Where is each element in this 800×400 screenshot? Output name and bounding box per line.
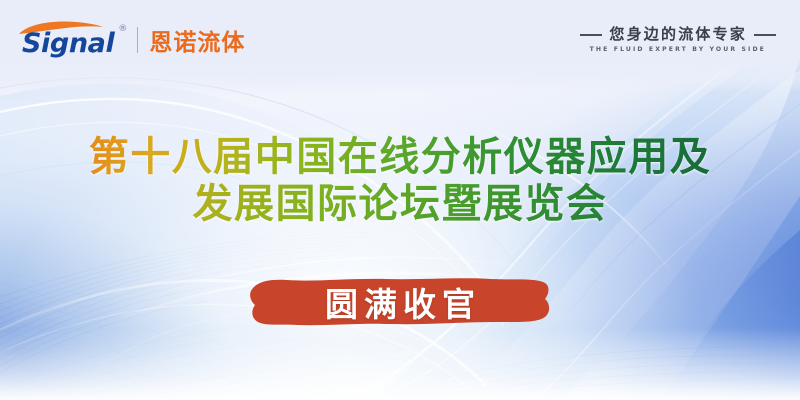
- slogan-english-text: THE FLUID EXPERT BY YOUR SIDE: [578, 47, 778, 54]
- slogan-chinese-text: 您身边的流体专家: [609, 26, 747, 43]
- slogan-rule-right-icon: [754, 34, 776, 36]
- event-title: 第十八届中国在线分析仪器应用及 发展国际论坛暨展览会: [0, 134, 800, 228]
- logo-divider-icon: [137, 27, 138, 53]
- logo-wordmark: Signal: [22, 28, 114, 59]
- event-title-line-1: 第十八届中国在线分析仪器应用及: [0, 134, 800, 181]
- banner-header: Signal ® 恩诺流体 您身边的流体专家 THE FLUID EXPERT …: [0, 0, 800, 80]
- registered-trademark-icon: ®: [118, 25, 127, 34]
- brand-logo[interactable]: Signal ® 恩诺流体: [22, 23, 245, 57]
- slogan-rule-left-icon: [580, 34, 602, 36]
- status-ribbon: 圆满收官: [245, 272, 555, 334]
- slogan-chinese-row: 您身边的流体专家: [580, 26, 776, 43]
- event-title-line-2: 发展国际论坛暨展览会: [0, 181, 800, 228]
- logo-mark: Signal ®: [22, 23, 114, 57]
- logo-chinese-name: 恩诺流体: [149, 23, 245, 57]
- brand-slogan: 您身边的流体专家 THE FLUID EXPERT BY YOUR SIDE: [580, 26, 776, 53]
- status-ribbon-text: 圆满收官: [245, 272, 555, 334]
- promo-banner: Signal ® 恩诺流体 您身边的流体专家 THE FLUID EXPERT …: [0, 0, 800, 400]
